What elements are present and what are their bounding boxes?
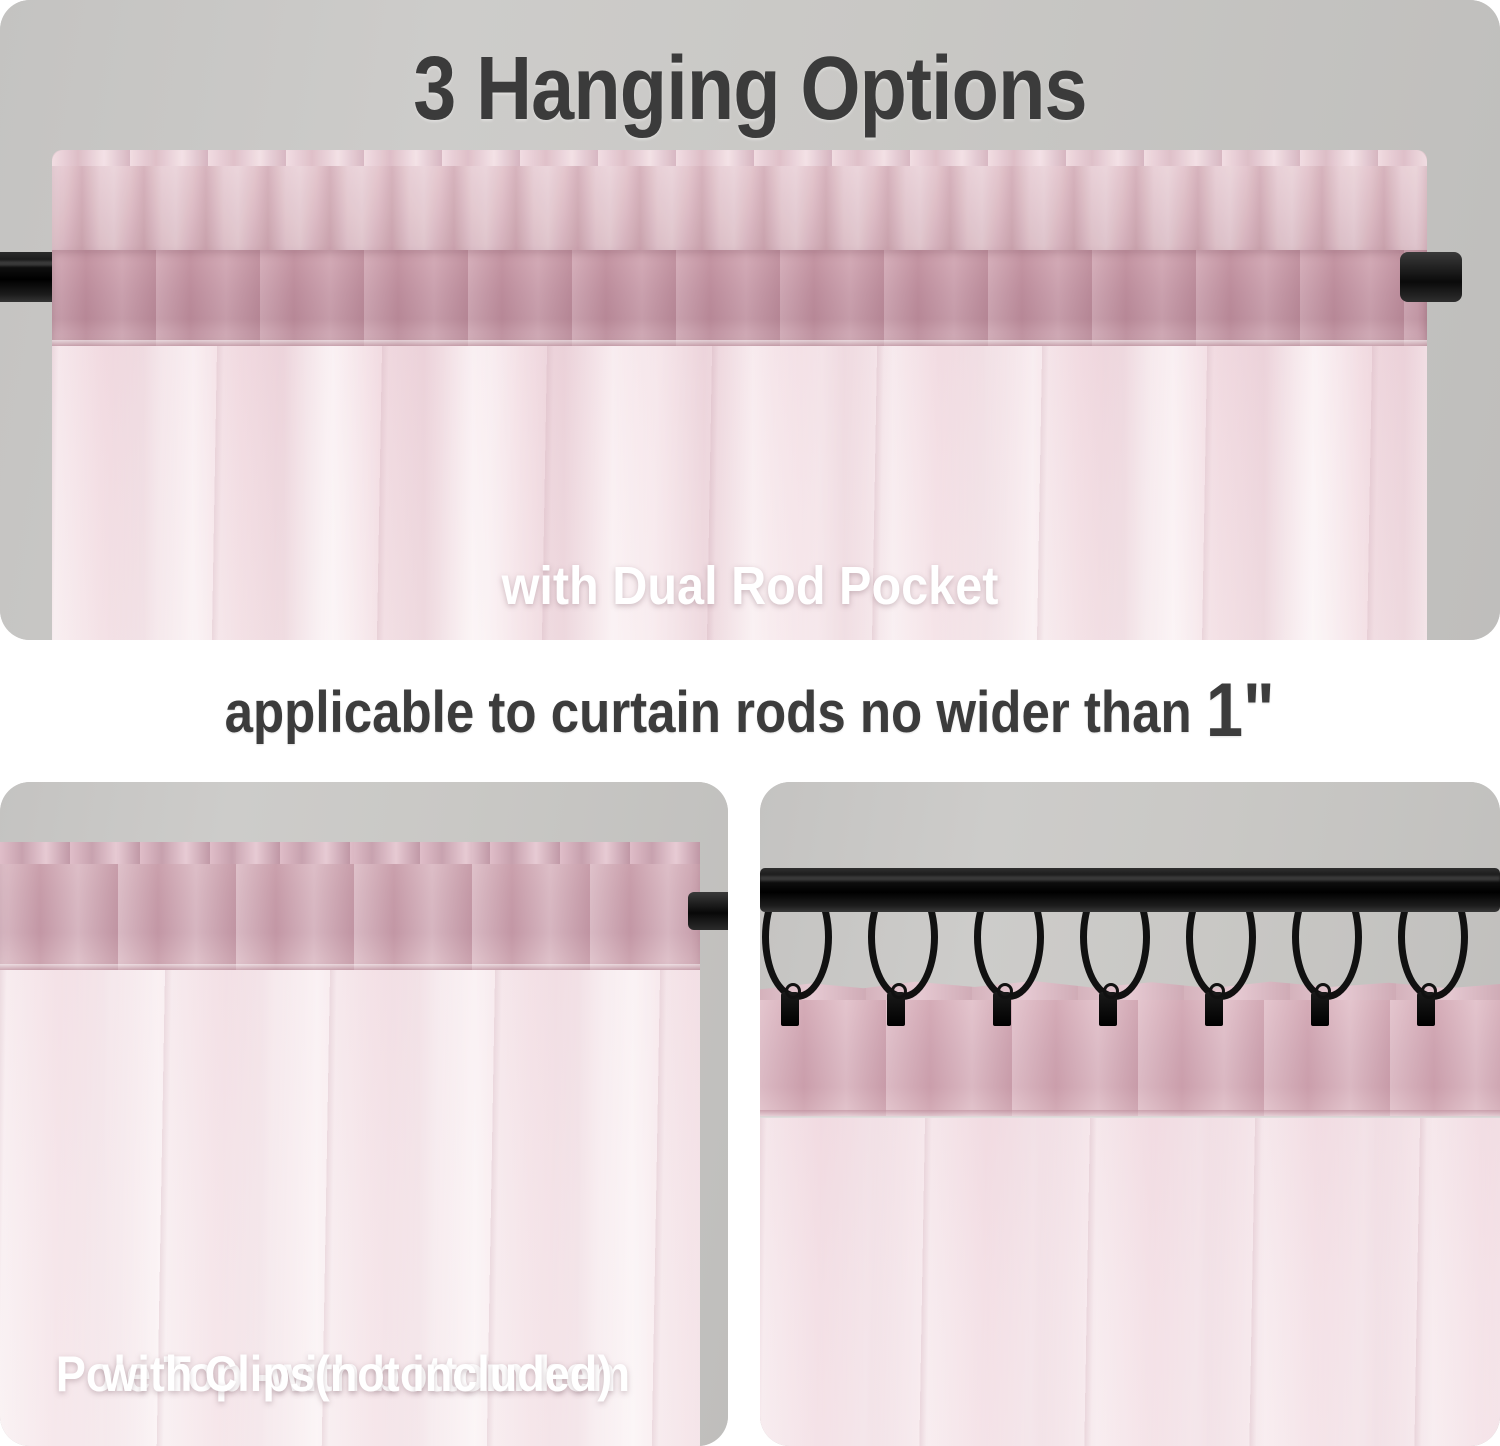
panel-gutter	[728, 782, 760, 1446]
panel-dual-rod-pocket: 3 Hanging Options with Dual Rod Pocket	[0, 0, 1500, 640]
fabric-folds	[760, 1118, 1500, 1446]
pole-top-header	[0, 842, 700, 972]
ruffle-header	[52, 150, 1427, 262]
caption-text: applicable to curtain rods no wider than…	[225, 667, 1275, 754]
curtain-clip-icon	[1205, 992, 1223, 1026]
pole-top-crown	[0, 842, 700, 864]
curtain-clip-icon	[781, 992, 799, 1026]
caption-measurement: 1"	[1206, 668, 1275, 753]
curtain-clip-icon	[1311, 992, 1329, 1026]
curtain-body	[760, 1118, 1500, 1446]
infographic-stage: 3 Hanging Options with Dual Rod Pocket a…	[0, 0, 1500, 1446]
panel-with-clips	[760, 782, 1500, 1446]
curtain-rod-tip-icon	[688, 892, 728, 930]
curtain-clip-icon	[1417, 992, 1435, 1026]
curtain-rod-end-cap-icon	[1400, 252, 1462, 302]
caption-band: applicable to curtain rods no wider than…	[0, 640, 1500, 780]
curtain-clip-icon	[1099, 992, 1117, 1026]
rod-pocket-band	[52, 250, 1427, 346]
curtain-clip-icon	[887, 992, 905, 1026]
label-dual-rod-pocket: with Dual Rod Pocket	[75, 555, 1425, 617]
label-with-clips: with Clips(not included)	[102, 1345, 612, 1403]
curtain-fabric-clips	[760, 978, 1500, 1446]
curtain-clip-icon	[993, 992, 1011, 1026]
caption-main-text: applicable to curtain rods no wider than	[225, 680, 1206, 745]
curtain-rod-icon	[760, 868, 1500, 912]
clip-header-seam	[760, 1110, 1500, 1118]
clip-header-band	[760, 1000, 1500, 1116]
page-title: 3 Hanging Options	[105, 38, 1395, 141]
ruffle-top-edge	[52, 150, 1427, 166]
